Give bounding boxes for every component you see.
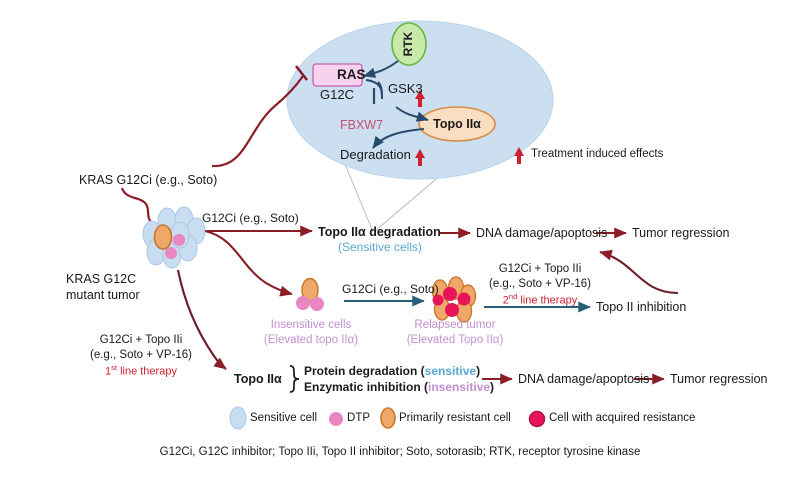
enzymatic-inhibition-label: Enzymatic inhibition (insensitive) (304, 381, 494, 395)
kras-inhibitor-pointer (122, 188, 151, 222)
degradation-label: Degradation (340, 148, 411, 163)
fbxw7-label: FBXW7 (340, 118, 383, 132)
topo2-inhibition-label: Topo II inhibition (596, 300, 686, 314)
abbreviations-footnote: G12Ci, G12C inhibitor; Topo IIi, Topo II… (160, 446, 641, 459)
g12ci-top-arrow-label: G12Ci (e.g., Soto) (202, 212, 299, 226)
second-line-label-1: G12Ci + Topo IIi (499, 263, 582, 276)
legend-label-primarily-resistant: Primarily resistant cell (399, 412, 511, 425)
ras-label: RAS (337, 67, 366, 83)
tumor-regression-label-1: Tumor regression (632, 226, 730, 240)
treatment-induced-effects-label: Treatment induced effects (531, 148, 663, 161)
topo-inhibition-to-dna-curve (600, 252, 678, 293)
legend-label-acquired-resistance: Cell with acquired resistance (549, 412, 695, 425)
topo2a-label: Topo IIα (433, 117, 481, 131)
mutant-tumor-label-line2: mutant tumor (66, 288, 140, 302)
ras-g12c-sublabel: G12C (320, 88, 354, 103)
topo2a-bottom-label: Topo IIα (234, 372, 282, 386)
second-line-label-2: (e.g., Soto + VP-16) (489, 278, 591, 291)
first-line-label-1: G12Ci + Topo IIi (100, 334, 183, 347)
figure-canvas: RTK RAS G12C GSK3 FBXW7 Topo IIα Degrada… (0, 0, 799, 498)
acquired-resistance-cell-marker (530, 412, 545, 427)
relapsed-tumor-cluster (433, 277, 476, 322)
protein-degradation-sensitive-tag: sensitive (425, 364, 476, 378)
tumor-to-insensitive-arrow (205, 231, 292, 294)
sensitive-cells-sublabel: (Sensitive cells) (338, 241, 422, 255)
kras-g12ci-label: KRAS G12Ci (e.g., Soto) (79, 173, 217, 187)
legend-label-dtp: DTP (347, 412, 370, 425)
legend-label-sensitive-cell: Sensitive cell (250, 412, 317, 425)
topo-degradation-label: Topo IIα degradation (318, 225, 441, 239)
insensitive-cells-cluster (296, 279, 324, 312)
dna-damage-label-2: DNA damage/apoptosis (518, 372, 649, 386)
dna-damage-label-1: DNA damage/apoptosis (476, 226, 607, 240)
gsk3-label: GSK3 (388, 82, 423, 97)
dtp-marker (329, 412, 343, 426)
primarily-resistant-cell-marker (381, 408, 395, 428)
relapsed-tumor-label-1: Relapsed tumor (414, 319, 495, 332)
g12ci-mid-arrow-label: G12Ci (e.g., Soto) (342, 283, 439, 297)
sensitive-cell-marker (230, 407, 246, 429)
relapsed-tumor-label-2: (Elevated Topo IIα) (407, 334, 504, 347)
tumor-regression-label-2: Tumor regression (670, 372, 768, 386)
insensitive-cells-label-1: Insensitive cells (271, 319, 352, 332)
kras-mutant-tumor-cluster (143, 207, 205, 268)
rtk-label: RTK (402, 32, 416, 57)
first-line-label-2: (e.g., Soto + VP-16) (90, 349, 192, 362)
first-line-therapy-label: 1st line therapy (105, 364, 177, 378)
mutant-tumor-label-line1: KRAS G12C (66, 272, 136, 286)
enzymatic-inhibition-insensitive-tag: insensitive (428, 380, 490, 394)
protein-degradation-label: Protein degradation (sensitive) (304, 365, 480, 379)
insensitive-cells-label-2: (Elevated topo IIα) (264, 334, 358, 347)
second-line-therapy-label: 2nd line therapy (503, 293, 577, 307)
topo2a-outcome-bracket (290, 366, 299, 392)
